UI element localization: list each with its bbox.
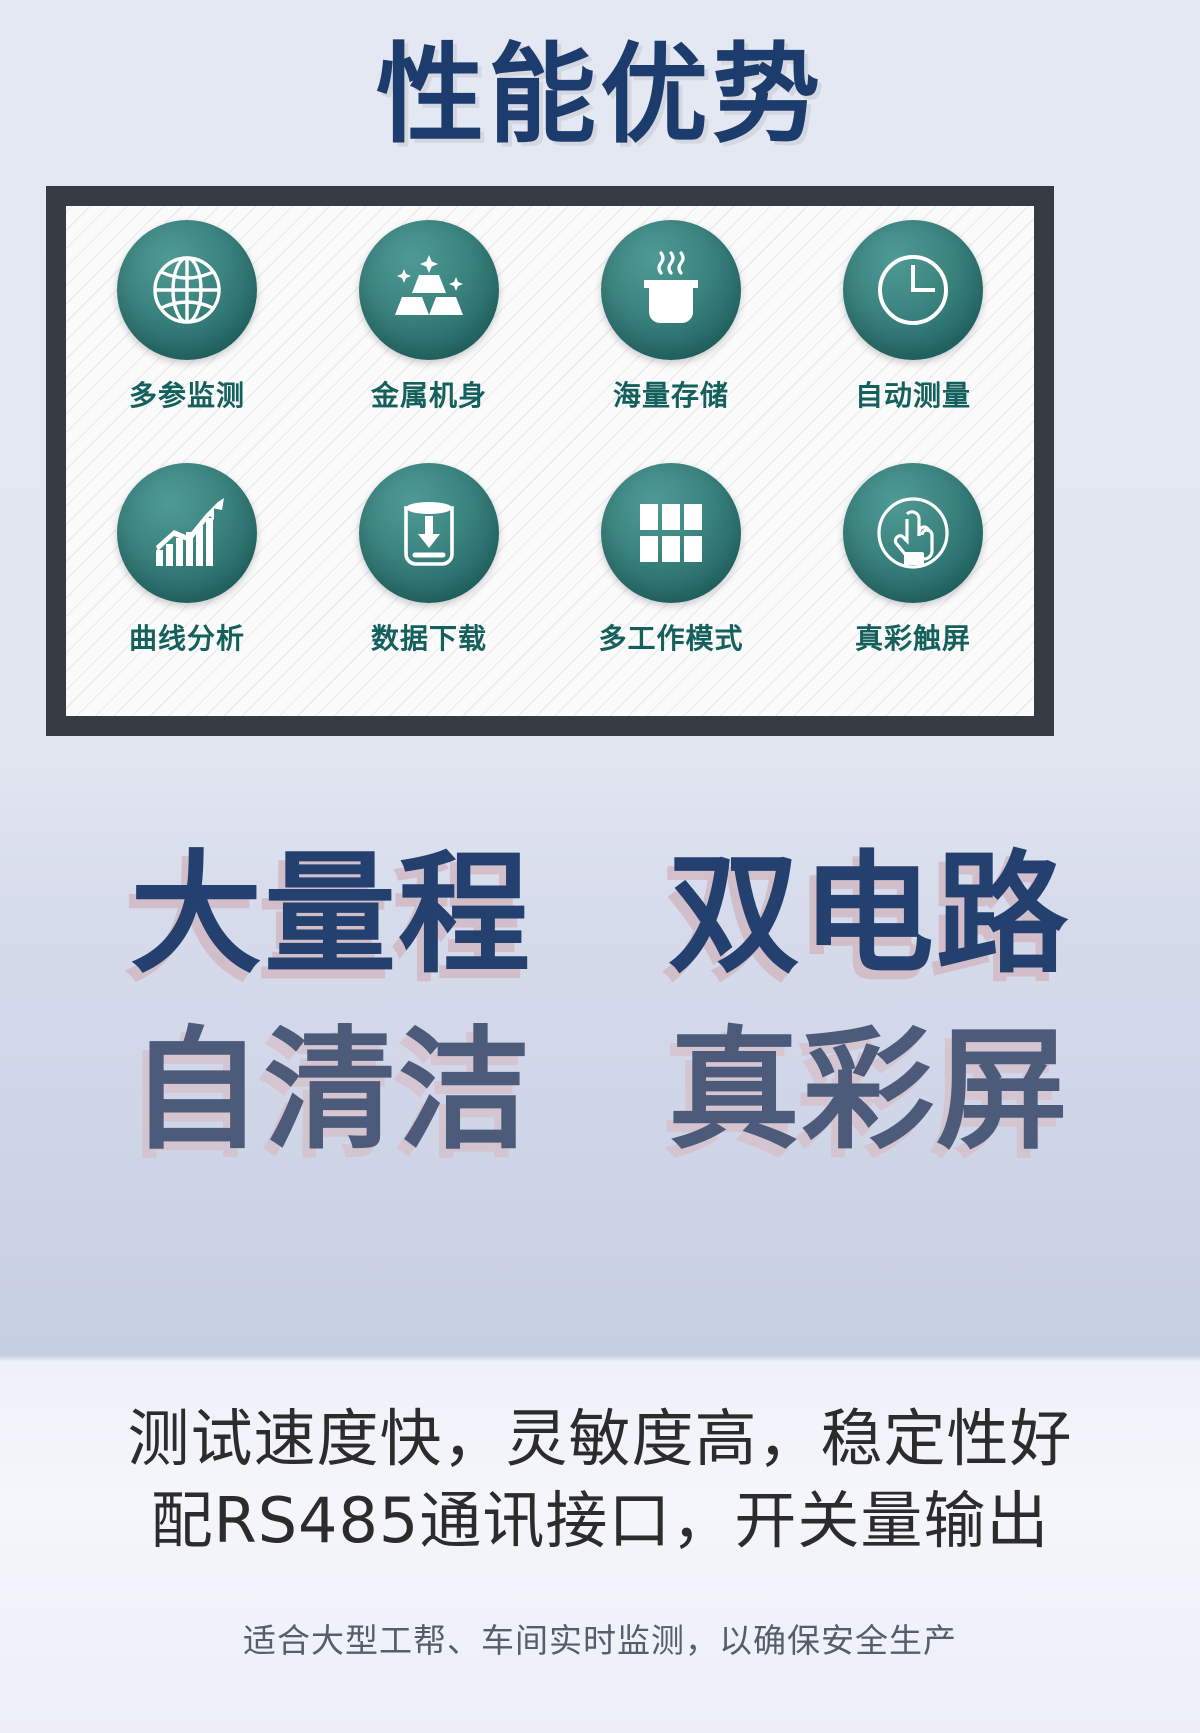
headline-line-2: 自清洁 真彩屏 [0, 1004, 1200, 1180]
headline-1-part-b: 双电路 [668, 838, 1070, 992]
page-title-wrap: 性能优势 [0, 34, 1200, 158]
feature-cell-color-touchscreen[interactable]: 真彩触屏 [805, 463, 1021, 657]
headline-2-part-b: 真彩屏 [668, 1014, 1070, 1168]
headline-block: 大量程 双电路 自清洁 真彩屏 [0, 828, 1200, 1179]
feature-cell-metal-body[interactable]: 金属机身 [321, 220, 537, 414]
bottom-text-block: 测试速度快，灵敏度高，稳定性好 配RS485通讯接口，开关量输出 适合大型工帮、… [0, 1398, 1200, 1662]
steaming-pot-icon [601, 220, 741, 360]
feature-row-2: 曲线分析 数据下载 [66, 463, 1034, 706]
globe-icon [117, 220, 257, 360]
feature-label: 真彩触屏 [855, 617, 971, 657]
gold-bars-icon [359, 220, 499, 360]
feature-row-1: 多参监测 金属机身 [66, 220, 1034, 463]
feature-label: 数据下载 [371, 617, 487, 657]
promo-page: 性能优势 多参监测 [0, 0, 1200, 1733]
feature-cell-mass-storage[interactable]: 海量存储 [563, 220, 779, 414]
feature-panel-inner: 多参监测 金属机身 [66, 206, 1034, 716]
clock-icon [843, 220, 983, 360]
feature-label: 海量存储 [613, 374, 729, 414]
feature-panel: 多参监测 金属机身 [46, 186, 1054, 736]
bar-chart-trend-icon [117, 463, 257, 603]
feature-label: 自动测量 [855, 374, 971, 414]
feature-cell-multi-work-mode[interactable]: 多工作模式 [563, 463, 779, 657]
touch-hand-icon [843, 463, 983, 603]
feature-cell-data-download[interactable]: 数据下载 [321, 463, 537, 657]
headline-line-1: 大量程 双电路 [0, 828, 1200, 1004]
download-box-icon [359, 463, 499, 603]
feature-label: 多工作模式 [598, 617, 743, 657]
feature-label: 金属机身 [371, 374, 487, 414]
feature-cell-multi-param-monitoring[interactable]: 多参监测 [79, 220, 295, 414]
headline-1-part-a: 大量程 [130, 838, 532, 992]
bottom-note: 适合大型工帮、车间实时监测，以确保安全生产 [0, 1614, 1200, 1662]
bottom-line-1: 测试速度快，灵敏度高，稳定性好 [0, 1398, 1200, 1480]
feature-cell-auto-measure[interactable]: 自动测量 [805, 220, 1021, 414]
feature-cell-curve-analysis[interactable]: 曲线分析 [79, 463, 295, 657]
page-title: 性能优势 [0, 34, 1200, 158]
feature-label: 多参监测 [129, 374, 245, 414]
feature-label: 曲线分析 [129, 617, 245, 657]
headline-2-part-a: 自清洁 [130, 1014, 532, 1168]
grid-squares-icon [601, 463, 741, 603]
bottom-line-2: 配RS485通讯接口，开关量输出 [0, 1480, 1200, 1562]
